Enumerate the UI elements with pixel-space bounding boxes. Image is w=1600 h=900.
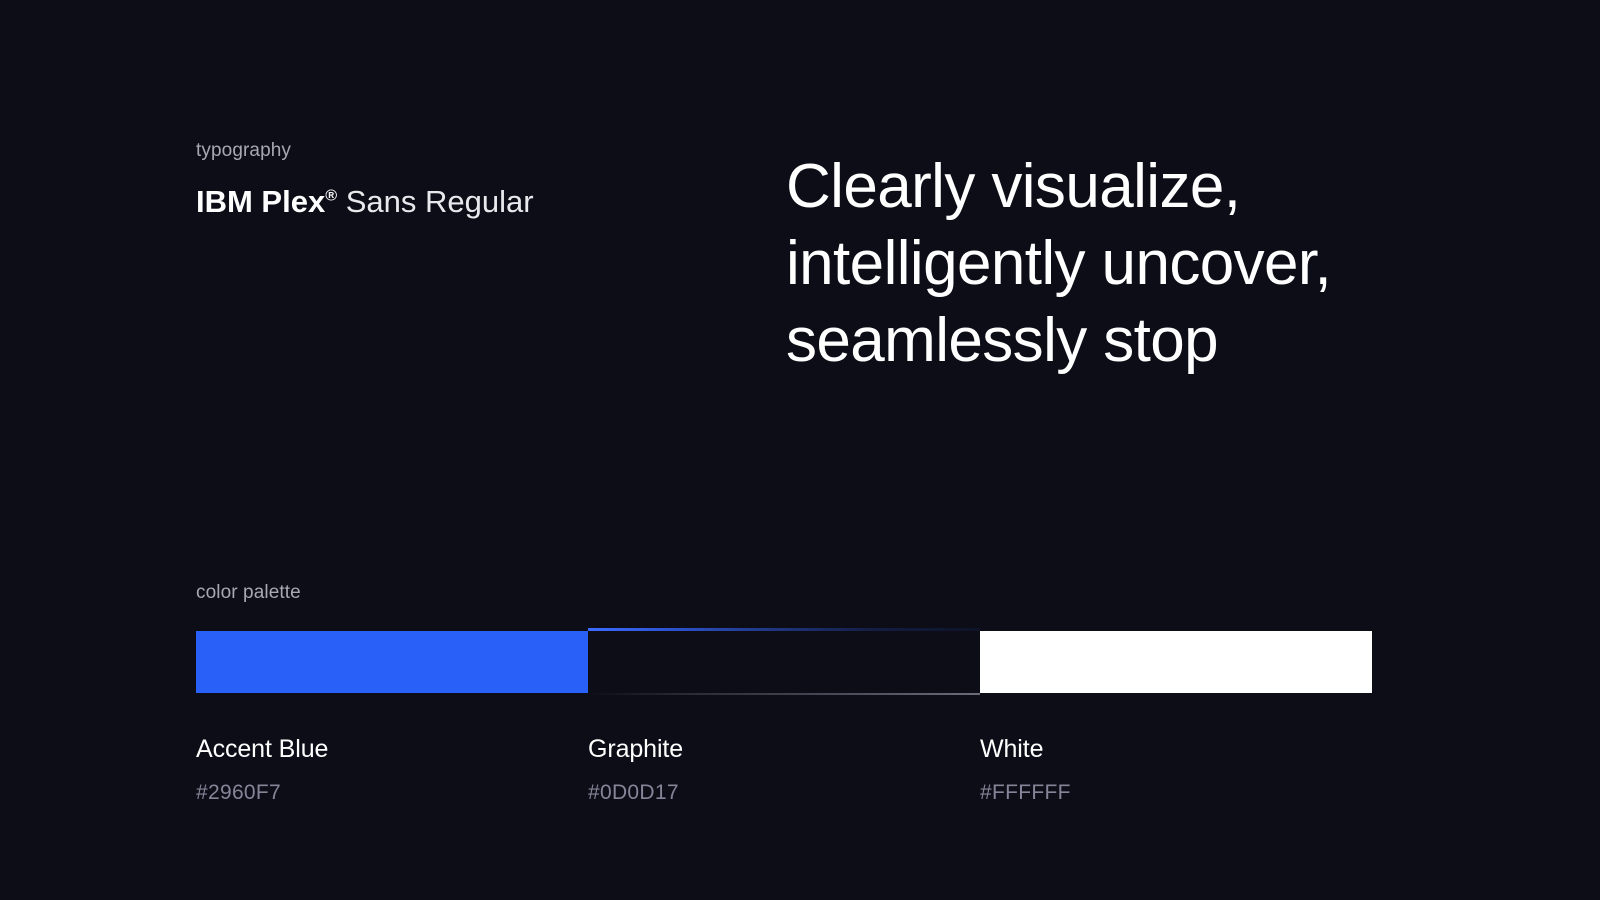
swatch-white[interactable]: [980, 631, 1372, 693]
swatch-name: Accent Blue: [196, 734, 588, 764]
font-style: Sans Regular: [337, 184, 533, 219]
registered-trademark-icon: ®: [325, 186, 337, 204]
font-brand: IBM Plex: [196, 184, 325, 219]
headline-line-2: intelligently uncover,: [786, 225, 1486, 302]
typography-label: typography: [196, 140, 736, 163]
swatch-legend: Accent Blue #2960F7 Graphite #0D0D17 Whi…: [196, 734, 1372, 805]
swatch-accent-blue[interactable]: [196, 631, 588, 693]
color-palette-label: color palette: [196, 582, 1376, 604]
swatch-hex: #FFFFFF: [980, 781, 1372, 805]
headline-line-3: seamlessly stop: [786, 302, 1486, 379]
design-system-page: typography IBM Plex® Sans Regular Clearl…: [0, 0, 1600, 900]
swatch-info-accent-blue: Accent Blue #2960F7: [196, 734, 588, 805]
swatch-hex: #0D0D17: [588, 781, 980, 805]
swatch-hex: #2960F7: [196, 781, 588, 805]
typography-section: typography IBM Plex® Sans Regular: [196, 140, 736, 222]
swatch-name: White: [980, 734, 1372, 764]
swatch-info-white: White #FFFFFF: [980, 734, 1372, 805]
headline-line-1: Clearly visualize,: [786, 148, 1486, 225]
headline: Clearly visualize, intelligently uncover…: [786, 148, 1486, 379]
font-specimen-name: IBM Plex® Sans Regular: [196, 183, 736, 222]
swatch-graphite[interactable]: [588, 631, 980, 693]
swatch-name: Graphite: [588, 734, 980, 764]
swatch-info-graphite: Graphite #0D0D17: [588, 734, 980, 805]
color-palette-section: color palette Accent Blue #2960F7 Graphi…: [196, 582, 1376, 805]
swatch-bar: [196, 631, 1372, 693]
